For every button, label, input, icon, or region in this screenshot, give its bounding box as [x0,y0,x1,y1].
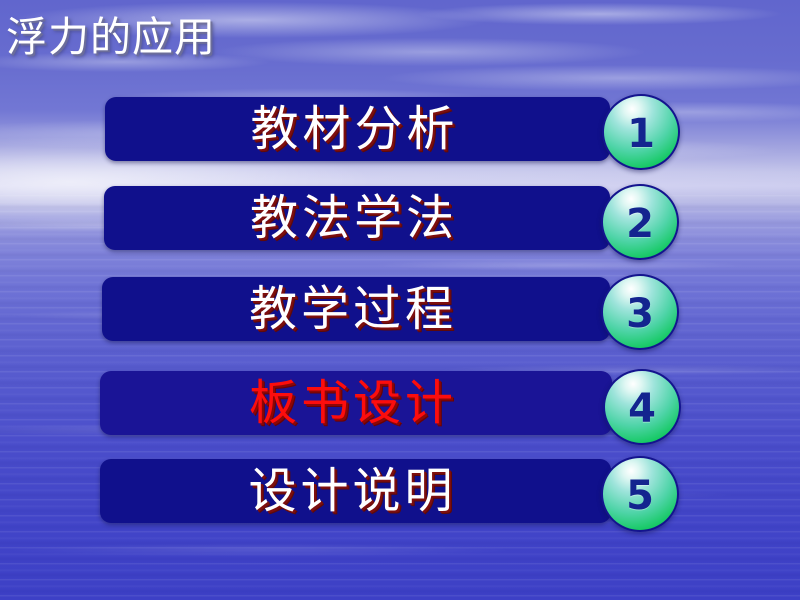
menu-item-3-label: 教学过程 [102,277,610,341]
menu-item-1-number: 1 [627,114,655,154]
presentation-slide: 浮力的应用 教材分析 1 教法学法 2 教学过程 3 板书设计 [0,0,800,600]
menu-item-2-number: 2 [626,204,654,244]
menu-item-3-number: 3 [626,294,654,334]
menu-item-1-badge[interactable]: 1 [602,94,680,170]
menu-item-4-number: 4 [628,389,656,429]
menu-item-2[interactable]: 教法学法 2 [104,186,610,250]
menu-item-3-badge[interactable]: 3 [601,274,679,350]
menu-item-5-number: 5 [626,476,654,516]
menu-item-4-badge[interactable]: 4 [603,369,681,445]
menu-item-2-label: 教法学法 [104,186,610,250]
menu-item-4-label: 板书设计 [100,371,612,435]
menu-item-5-badge[interactable]: 5 [601,456,679,532]
menu-item-5[interactable]: 设计说明 5 [100,459,611,523]
menu-item-5-label: 设计说明 [100,459,611,523]
menu-item-2-badge[interactable]: 2 [601,184,679,260]
menu-item-4[interactable]: 板书设计 4 [100,371,612,435]
menu-item-1[interactable]: 教材分析 1 [105,97,610,161]
agenda-menu: 教材分析 1 教法学法 2 教学过程 3 板书设计 4 [0,0,800,600]
menu-item-3[interactable]: 教学过程 3 [102,277,610,341]
menu-item-1-label: 教材分析 [105,97,610,161]
